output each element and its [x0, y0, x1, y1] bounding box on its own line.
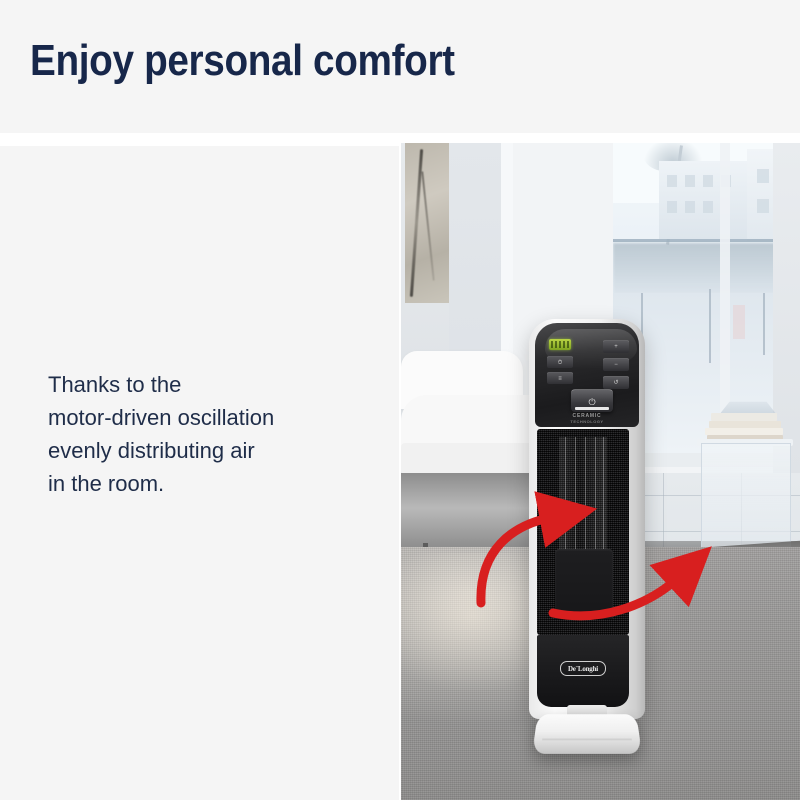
product-brand-badge: DeˉLonghi [560, 661, 606, 676]
book [705, 428, 783, 435]
heater-lower-body: DeˉLonghi [537, 635, 629, 707]
ceramic-technology-label: CERAMIC TECHNOLOGY [535, 413, 639, 425]
header: Enjoy personal comfort [0, 0, 800, 133]
tower-heater: ⏱ ≡ + − ↺ ⏻ CERAMI [529, 319, 645, 739]
body-copy: Thanks to the motor-driven oscillation e… [48, 368, 368, 500]
minus-icon: − [614, 362, 618, 368]
balcony-railing [613, 239, 800, 242]
timer-button[interactable]: ⏱ [547, 356, 573, 368]
trees [613, 243, 800, 295]
timer-icon: ⏱ [558, 360, 563, 366]
heater-grille [537, 429, 629, 635]
plus-icon: + [614, 344, 618, 350]
mode-icon: ≡ [558, 376, 562, 382]
temp-down-button[interactable]: − [603, 358, 629, 371]
badge-text: DeˉLonghi [568, 665, 598, 673]
mode-button[interactable]: ≡ [547, 372, 573, 384]
power-indicator [575, 407, 609, 410]
grille-vanes [559, 437, 607, 549]
ceramic-label-line2: TECHNOLOGY [535, 419, 639, 425]
book [709, 421, 781, 428]
power-icon: ⏻ [588, 398, 595, 407]
body-line-1: Thanks to the [48, 368, 368, 401]
body-line-2: motor-driven oscillation [48, 401, 368, 434]
temp-up-button[interactable]: + [603, 340, 629, 353]
body-line-3: evenly distributing air [48, 434, 368, 467]
building [659, 161, 747, 239]
base-seam [542, 738, 632, 740]
wall-artwork [405, 143, 449, 303]
left-panel: Thanks to the motor-driven oscillation e… [0, 146, 401, 800]
heater-base [532, 714, 642, 754]
oscillation-button[interactable]: ↺ [603, 376, 629, 389]
book [711, 413, 777, 421]
control-panel: ⏱ ≡ + − ↺ ⏻ CERAMI [535, 323, 639, 427]
product-photo: ⏱ ≡ + − ↺ ⏻ CERAMI [401, 143, 800, 800]
body-line-4: in the room. [48, 467, 368, 500]
grille-plate [555, 549, 613, 619]
oscillation-icon: ↺ [613, 380, 618, 386]
power-button[interactable]: ⏻ [571, 389, 613, 412]
page-title: Enjoy personal comfort [30, 34, 455, 88]
lcd-display [549, 339, 571, 350]
marketing-slide: Enjoy personal comfort Thanks to the mot… [0, 0, 800, 800]
